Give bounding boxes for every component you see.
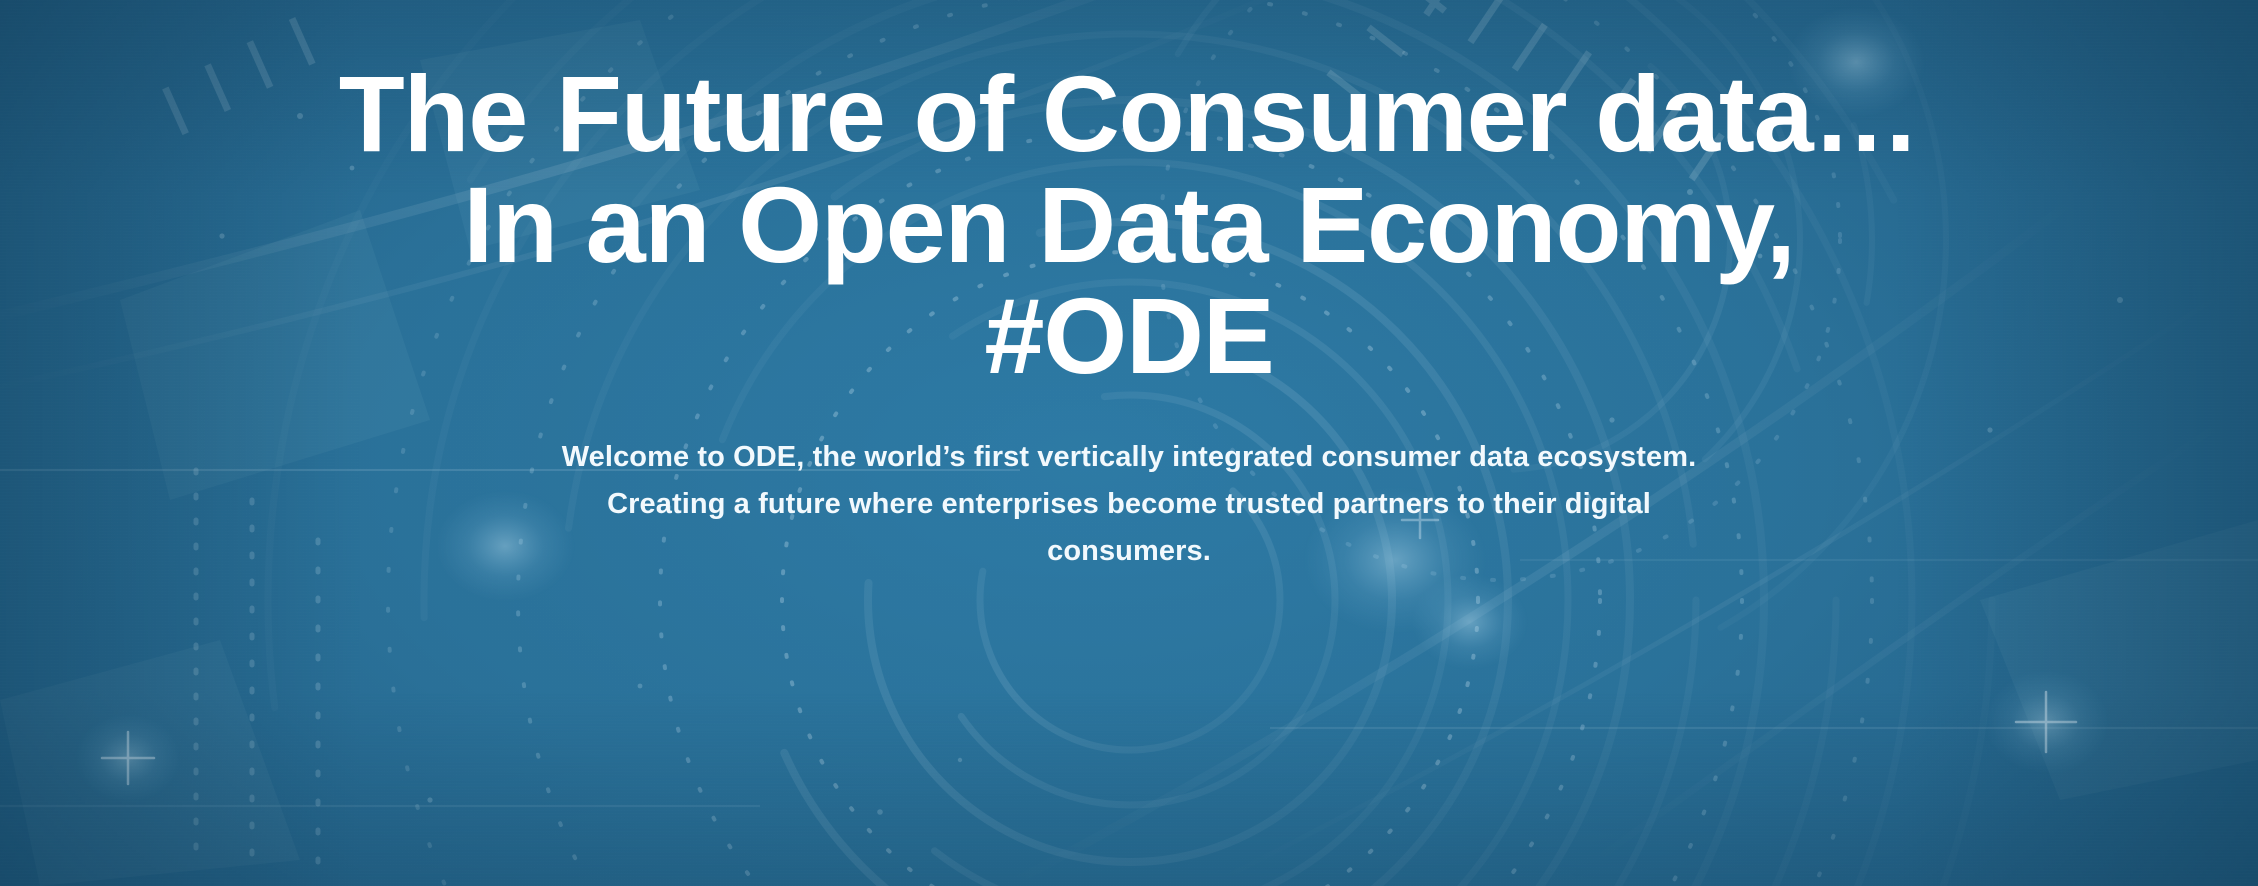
headline-line-2: In an Open Data Economy,	[39, 169, 2219, 280]
headline-line-1: The Future of Consumer data…	[39, 58, 2219, 169]
hero-content: The Future of Consumer data… In an Open …	[0, 0, 2258, 886]
subcopy-line-1: Welcome to ODE, the world’s first vertic…	[514, 434, 1744, 481]
headline-line-3: #ODE	[39, 280, 2219, 391]
subcopy-line-3: consumers.	[514, 528, 1744, 575]
subcopy-line-2: Creating a future where enterprises beco…	[514, 481, 1744, 528]
hero-headline: The Future of Consumer data… In an Open …	[39, 58, 2219, 392]
hero-subcopy: Welcome to ODE, the world’s first vertic…	[514, 434, 1744, 575]
hero-banner: The Future of Consumer data… In an Open …	[0, 0, 2258, 886]
